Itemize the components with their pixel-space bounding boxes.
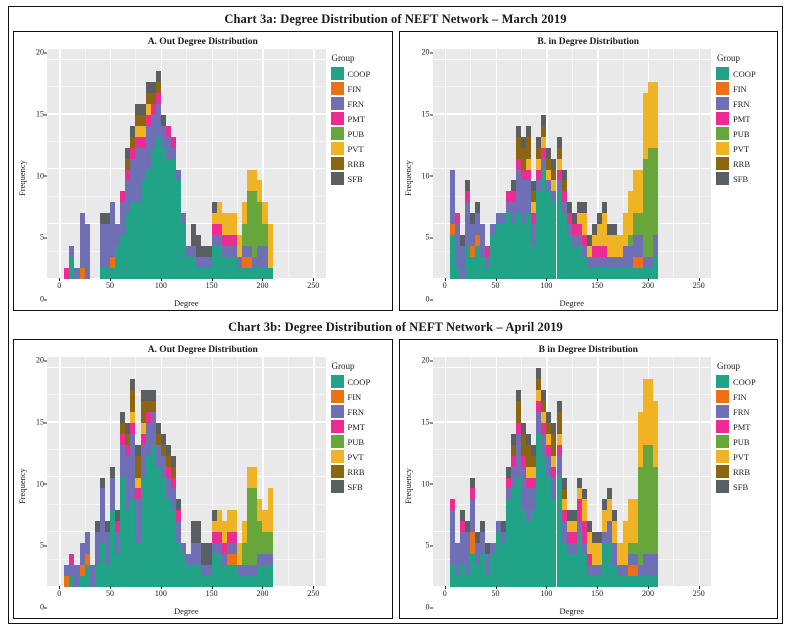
legend-item-sfb[interactable]: SFB	[331, 479, 388, 494]
bar-segment-rrb	[541, 401, 546, 412]
legend-item-rrb[interactable]: RRB	[331, 156, 388, 171]
legend-swatch-icon	[716, 172, 729, 185]
chart-block-3b: Chart 3b: Degree Distribution of NEFT Ne…	[9, 315, 782, 623]
y-tick-label: 15	[36, 110, 44, 119]
legend-swatch-icon	[331, 142, 344, 155]
legend-item-pvt[interactable]: PVT	[331, 449, 388, 464]
legend: Group COOPFINFRNPMTPUBPVTRRBSFB	[711, 49, 773, 308]
bar-segment-sfb	[546, 412, 551, 423]
bar-segment-coop	[268, 565, 273, 587]
panel-out-march-title: A. Out Degree Distribution	[14, 32, 392, 49]
legend-item-label: FIN	[348, 392, 362, 402]
chart-3a-panels: A. Out Degree Distribution Frequency 051…	[9, 31, 782, 315]
bar-segment-rrb	[536, 379, 541, 390]
legend-swatch-icon	[331, 390, 344, 403]
legend-item-pmt[interactable]: PMT	[716, 419, 773, 434]
bar-segment-pvt	[653, 82, 658, 148]
bar-segment-pmt	[130, 423, 135, 434]
bar-segment-rrb	[156, 82, 161, 93]
legend-swatch-icon	[331, 465, 344, 478]
bar-segment-rrb	[171, 467, 176, 478]
x-tick-label: 200	[256, 589, 268, 598]
x-axis-ticks: 050100150200250	[433, 279, 712, 289]
bar-segment-sfb	[526, 434, 531, 445]
panel-out-march-plot: Frequency 05101520 050100150200250 Degre…	[14, 49, 392, 310]
bar-segment-frn	[653, 235, 658, 257]
bar-segment-rrb	[541, 126, 546, 137]
legend: Group COOPFINFRNPMTPUBPVTRRBSFB	[711, 357, 773, 616]
legend-item-label: PUB	[348, 129, 365, 139]
bar-segment-sfb	[582, 489, 587, 500]
legend-swatch-icon	[716, 112, 729, 125]
bar-series-group	[433, 49, 712, 279]
y-tick-label: 10	[36, 171, 44, 180]
legend-item-label: PUB	[733, 129, 750, 139]
legend-item-pmt[interactable]: PMT	[716, 111, 773, 126]
bar-segment-pmt	[526, 170, 531, 181]
bar-segment-pvt	[582, 499, 587, 521]
y-tick-label: 0	[40, 603, 44, 612]
legend-item-label: COOP	[733, 377, 756, 387]
legend-item-pub[interactable]: PUB	[331, 434, 388, 449]
bar-segment-pub	[268, 532, 273, 554]
panel-out-march: A. Out Degree Distribution Frequency 051…	[13, 31, 393, 311]
bar-segment-frn	[85, 224, 90, 279]
legend-item-label: FRN	[733, 99, 750, 109]
bar-segment-pmt	[69, 554, 74, 565]
y-tick-label: 5	[426, 541, 430, 550]
legend-item-label: SFB	[733, 482, 748, 492]
legend-item-label: RRB	[733, 159, 750, 169]
bar-segment-sfb	[521, 423, 526, 434]
bar-segment-sfb	[176, 499, 181, 510]
bar-segment-coop	[653, 576, 658, 587]
legend-item-label: PUB	[733, 437, 750, 447]
legend-swatch-icon	[716, 435, 729, 448]
x-tick-label: 200	[642, 589, 654, 598]
x-tick-label: 200	[256, 281, 268, 290]
x-tick-label: 150	[206, 281, 218, 290]
bar-segment-sfb	[475, 202, 480, 213]
bar-segment-sfb	[156, 71, 161, 82]
y-tick-label: 20	[36, 356, 44, 365]
bar-segment-coop	[653, 257, 658, 279]
bar-segment-pvt	[252, 467, 257, 489]
bar-segment-sfb	[110, 467, 115, 478]
histogram-bar	[85, 224, 90, 279]
legend-swatch-icon	[331, 82, 344, 95]
legend-swatch-icon	[716, 480, 729, 493]
legend-item-label: SFB	[733, 174, 748, 184]
panel-out-april-plot: Frequency 05101520 050100150200250 Degre…	[14, 357, 392, 618]
legend-title: Group	[331, 53, 388, 66]
bar-segment-pvt	[612, 521, 617, 543]
bar-segment-sfb	[516, 126, 521, 137]
x-tick-label: 50	[106, 589, 114, 598]
bar-series-group	[47, 357, 326, 587]
panel-out-april-title: A. Out Degree Distribution	[14, 340, 392, 357]
legend-item-pmt[interactable]: PMT	[331, 111, 388, 126]
x-axis-ticks: 050100150200250	[47, 587, 326, 597]
x-tick-label: 250	[307, 281, 319, 290]
legend-item-label: RRB	[733, 467, 750, 477]
legend-swatch-icon	[716, 420, 729, 433]
bar-segment-frn	[653, 554, 658, 576]
bar-segment-pub	[653, 148, 658, 236]
legend-swatch-icon	[331, 67, 344, 80]
bar-segment-pmt	[156, 93, 161, 104]
bar-segment-coop	[268, 268, 273, 279]
panel-in-april: B in Degree Distribution Frequency 05101…	[399, 339, 779, 619]
panel-in-april-plot: Frequency 05101520 050100150200250 Degre…	[400, 357, 778, 618]
legend-item-label: FIN	[733, 84, 747, 94]
legend-item-coop[interactable]: COOP	[716, 374, 773, 389]
legend-item-label: COOP	[348, 377, 371, 387]
bar-segment-pvt	[262, 202, 267, 224]
y-tick-label: 5	[40, 233, 44, 242]
bar-segment-pub	[653, 467, 658, 555]
plot-area	[433, 49, 712, 279]
legend-swatch-icon	[716, 142, 729, 155]
y-axis-label: Frequency	[402, 357, 414, 616]
legend-item-rrb[interactable]: RRB	[331, 464, 388, 479]
legend-item-pub[interactable]: PUB	[331, 126, 388, 141]
legend-swatch-icon	[331, 127, 344, 140]
x-tick-label: 150	[591, 281, 603, 290]
x-tick-label: 50	[492, 281, 500, 290]
x-tick-label: 0	[443, 589, 447, 598]
bar-segment-pvt	[653, 401, 658, 467]
legend-item-pvt[interactable]: PVT	[716, 449, 773, 464]
figure-frame: Chart 3a: Degree Distribution of NEFT Ne…	[8, 6, 783, 624]
bar-segment-frn	[171, 148, 176, 159]
bar-segment-pvt	[557, 434, 562, 445]
legend-item-label: FIN	[733, 392, 747, 402]
legend-item-pvt[interactable]: PVT	[716, 141, 773, 156]
y-tick-label: 0	[40, 295, 44, 304]
legend-item-label: FRN	[348, 407, 365, 417]
y-axis-label: Frequency	[16, 357, 28, 616]
bar-segment-pvt	[232, 213, 237, 235]
y-tick-label: 20	[36, 48, 44, 57]
y-tick-label: 20	[422, 356, 430, 365]
legend-item-label: PMT	[733, 114, 750, 124]
legend-item-frn[interactable]: FRN	[331, 96, 388, 111]
bar-segment-pvt	[562, 499, 567, 510]
legend-swatch-icon	[331, 97, 344, 110]
legend-swatch-icon	[716, 450, 729, 463]
panel-in-march: B. in Degree Distribution Frequency 0510…	[399, 31, 779, 311]
legend-item-label: COOP	[733, 69, 756, 79]
x-tick-label: 250	[693, 589, 705, 598]
legend-swatch-icon	[331, 435, 344, 448]
legend-item-fin[interactable]: FIN	[331, 81, 388, 96]
legend-item-label: PVT	[733, 144, 749, 154]
bar-segment-pmt	[470, 488, 475, 499]
legend-title: Group	[716, 361, 773, 374]
bar-segment-pvt	[557, 159, 562, 170]
legend-item-label: PVT	[348, 452, 364, 462]
y-tick-label: 10	[36, 479, 44, 488]
bar-segment-pmt	[450, 499, 455, 510]
bar-segment-sfb	[161, 115, 166, 126]
legend-swatch-icon	[331, 375, 344, 388]
bar-segment-sfb	[196, 521, 201, 543]
bar-segment-sfb	[587, 521, 592, 532]
bar-segment-sfb	[130, 379, 135, 390]
y-axis-ticks: 05101520	[28, 49, 47, 308]
bar-segment-pvt	[268, 488, 273, 532]
x-tick-label: 150	[591, 589, 603, 598]
legend-item-frn[interactable]: FRN	[331, 404, 388, 419]
legend-swatch-icon	[716, 465, 729, 478]
bar-segment-pmt	[455, 213, 460, 224]
plot-area	[47, 357, 326, 587]
bar-segment-rrb	[516, 401, 521, 423]
bar-segment-pmt	[465, 191, 470, 202]
legend-swatch-icon	[716, 127, 729, 140]
x-tick-label: 250	[307, 589, 319, 598]
bar-segment-rrb	[151, 401, 156, 412]
bar-segment-sfb	[612, 224, 617, 235]
bar-segment-frn	[181, 543, 186, 554]
x-axis-label: Degree	[47, 597, 326, 616]
legend-swatch-icon	[716, 405, 729, 418]
y-tick-label: 10	[422, 479, 430, 488]
y-axis-label: Frequency	[402, 49, 414, 308]
bar-segment-sfb	[562, 478, 567, 489]
x-tick-label: 0	[57, 281, 61, 290]
chart-block-3a: Chart 3a: Degree Distribution of NEFT Ne…	[9, 7, 782, 315]
bar-segment-sfb	[541, 390, 546, 401]
bar-segment-pvt	[130, 412, 135, 423]
legend-item-label: PVT	[348, 144, 364, 154]
legend-item-label: FRN	[733, 407, 750, 417]
histogram-bar	[268, 488, 273, 587]
bar-segment-sfb	[171, 456, 176, 467]
bar-series-group	[47, 49, 326, 279]
legend-item-frn[interactable]: FRN	[716, 96, 773, 111]
y-axis-ticks: 05101520	[414, 357, 433, 616]
legend-item-label: FRN	[348, 99, 365, 109]
legend-swatch-icon	[716, 390, 729, 403]
bar-segment-rrb	[562, 180, 567, 191]
x-tick-label: 100	[540, 281, 552, 290]
legend-item-fin[interactable]: FIN	[716, 81, 773, 96]
legend-item-label: SFB	[348, 174, 363, 184]
legend: Group COOPFINFRNPMTPUBPVTRRBSFB	[326, 49, 388, 308]
bar-segment-frn	[268, 554, 273, 565]
bar-segment-pvt	[268, 224, 273, 268]
x-tick-label: 50	[492, 589, 500, 598]
plot-area	[433, 357, 712, 587]
x-tick-label: 200	[642, 281, 654, 290]
bar-segment-rrb	[557, 412, 562, 434]
bar-segment-sfb	[541, 115, 546, 126]
legend-item-pub[interactable]: PUB	[716, 434, 773, 449]
legend-item-label: PMT	[348, 114, 365, 124]
x-tick-label: 250	[693, 281, 705, 290]
bar-segment-sfb	[465, 180, 470, 191]
bar-segment-pmt	[562, 191, 567, 202]
x-axis-label: Degree	[433, 597, 712, 616]
legend-item-label: RRB	[348, 159, 365, 169]
bar-segment-sfb	[161, 434, 166, 445]
panel-out-april: A. Out Degree Distribution Frequency 051…	[13, 339, 393, 619]
y-tick-label: 5	[426, 233, 430, 242]
bar-segment-fin	[85, 554, 90, 565]
y-tick-label: 20	[422, 48, 430, 57]
x-tick-label: 50	[106, 281, 114, 290]
y-axis-label: Frequency	[16, 49, 28, 308]
bar-segment-rrb	[562, 489, 567, 500]
legend-swatch-icon	[331, 172, 344, 185]
bar-segment-pmt	[171, 137, 176, 148]
legend-item-sfb[interactable]: SFB	[716, 479, 773, 494]
bar-segment-pvt	[582, 213, 587, 235]
bar-segment-pvt	[541, 137, 546, 148]
x-tick-label: 100	[540, 589, 552, 598]
legend-item-rrb[interactable]: RRB	[716, 156, 773, 171]
bar-segment-sfb	[582, 202, 587, 213]
legend-title: Group	[331, 361, 388, 374]
legend-swatch-icon	[331, 112, 344, 125]
bar-segment-sfb	[460, 510, 465, 521]
bar-segment-frn	[470, 499, 475, 532]
y-tick-label: 0	[426, 295, 430, 304]
bar-segment-frn	[176, 170, 181, 181]
bar-segment-sfb	[607, 488, 612, 499]
bar-segment-frn	[110, 478, 115, 511]
y-tick-label: 15	[422, 110, 430, 119]
bar-segment-frn	[85, 532, 90, 554]
legend-swatch-icon	[331, 420, 344, 433]
legend-item-pub[interactable]: PUB	[716, 126, 773, 141]
legend-item-label: FIN	[348, 84, 362, 94]
bar-segment-sfb	[120, 412, 125, 423]
bar-segment-frn	[176, 521, 181, 543]
bar-segment-pvt	[257, 180, 262, 202]
bar-segment-sfb	[151, 390, 156, 401]
bar-series-group	[433, 357, 712, 587]
x-tick-label: 100	[155, 281, 167, 290]
bar-segment-pmt	[557, 445, 562, 456]
legend-item-label: COOP	[348, 69, 371, 79]
x-axis-label: Degree	[433, 289, 712, 308]
bar-segment-sfb	[557, 401, 562, 412]
bar-segment-pmt	[171, 478, 176, 489]
chart-3b-title: Chart 3b: Degree Distribution of NEFT Ne…	[9, 315, 782, 339]
bar-segment-sfb	[526, 126, 531, 137]
bar-segment-pmt	[176, 510, 181, 521]
bar-segment-sfb	[602, 202, 607, 213]
bar-segment-sfb	[557, 137, 562, 148]
x-axis-ticks: 050100150200250	[47, 279, 326, 289]
bar-segment-sfb	[480, 521, 485, 532]
bar-segment-pmt	[166, 126, 171, 137]
legend-swatch-icon	[331, 405, 344, 418]
bar-segment-pvt	[232, 510, 237, 532]
bar-segment-sfb	[562, 170, 567, 181]
x-axis-label: Degree	[47, 289, 326, 308]
legend: Group COOPFINFRNPMTPUBPVTRRBSFB	[326, 357, 388, 616]
x-tick-label: 0	[57, 589, 61, 598]
bar-segment-rrb	[130, 390, 135, 412]
legend-item-label: PVT	[733, 452, 749, 462]
legend-item-label: RRB	[348, 467, 365, 477]
bar-segment-sfb	[567, 202, 572, 213]
plot-area	[47, 49, 326, 279]
bar-segment-sfb	[156, 423, 161, 434]
legend-item-label: PUB	[348, 437, 365, 447]
bar-segment-sfb	[100, 478, 105, 489]
histogram-bar	[653, 82, 658, 279]
bar-segment-sfb	[546, 148, 551, 159]
legend-item-coop[interactable]: COOP	[331, 374, 388, 389]
legend-swatch-icon	[716, 375, 729, 388]
bar-segment-sfb	[612, 510, 617, 521]
legend-item-sfb[interactable]: SFB	[716, 171, 773, 186]
x-tick-label: 100	[155, 589, 167, 598]
legend-item-sfb[interactable]: SFB	[331, 171, 388, 186]
bar-segment-rrb	[557, 148, 562, 159]
legend-item-label: PMT	[348, 422, 365, 432]
y-tick-label: 0	[426, 603, 430, 612]
legend-item-pvt[interactable]: PVT	[331, 141, 388, 156]
bar-segment-frn	[557, 456, 562, 478]
bar-segment-pmt	[232, 532, 237, 543]
y-axis-ticks: 05101520	[414, 49, 433, 308]
panel-in-march-plot: Frequency 05101520 050100150200250 Degre…	[400, 49, 778, 310]
bar-segment-frn	[69, 246, 74, 257]
bar-segment-rrb	[526, 137, 531, 159]
legend-swatch-icon	[331, 480, 344, 493]
y-tick-label: 5	[40, 541, 44, 550]
legend-item-rrb[interactable]: RRB	[716, 464, 773, 479]
legend-title: Group	[716, 53, 773, 66]
panel-in-april-title: B in Degree Distribution	[400, 340, 778, 357]
bar-segment-pvt	[526, 159, 531, 170]
y-tick-label: 15	[36, 418, 44, 427]
panel-in-march-title: B. in Degree Distribution	[400, 32, 778, 49]
legend-item-label: SFB	[348, 482, 363, 492]
legend-swatch-icon	[331, 450, 344, 463]
legend-swatch-icon	[716, 157, 729, 170]
y-tick-label: 15	[422, 418, 430, 427]
bar-segment-sfb	[536, 368, 541, 379]
bar-segment-sfb	[470, 478, 475, 489]
legend-item-pmt[interactable]: PMT	[331, 419, 388, 434]
histogram-bar	[653, 401, 658, 587]
figure-root: Chart 3a: Degree Distribution of NEFT Ne…	[0, 0, 791, 630]
legend-item-coop[interactable]: COOP	[331, 66, 388, 81]
x-tick-label: 0	[443, 281, 447, 290]
legend-swatch-icon	[331, 157, 344, 170]
histogram-bar	[268, 224, 273, 279]
legend-item-frn[interactable]: FRN	[716, 404, 773, 419]
legend-item-coop[interactable]: COOP	[716, 66, 773, 81]
legend-swatch-icon	[716, 67, 729, 80]
legend-item-fin[interactable]: FIN	[716, 389, 773, 404]
legend-swatch-icon	[716, 97, 729, 110]
legend-swatch-icon	[716, 82, 729, 95]
legend-item-label: PMT	[733, 422, 750, 432]
bar-segment-frn	[181, 213, 186, 224]
bar-segment-sfb	[166, 445, 171, 456]
legend-item-fin[interactable]: FIN	[331, 389, 388, 404]
bar-segment-sfb	[577, 478, 582, 489]
x-tick-label: 150	[206, 589, 218, 598]
